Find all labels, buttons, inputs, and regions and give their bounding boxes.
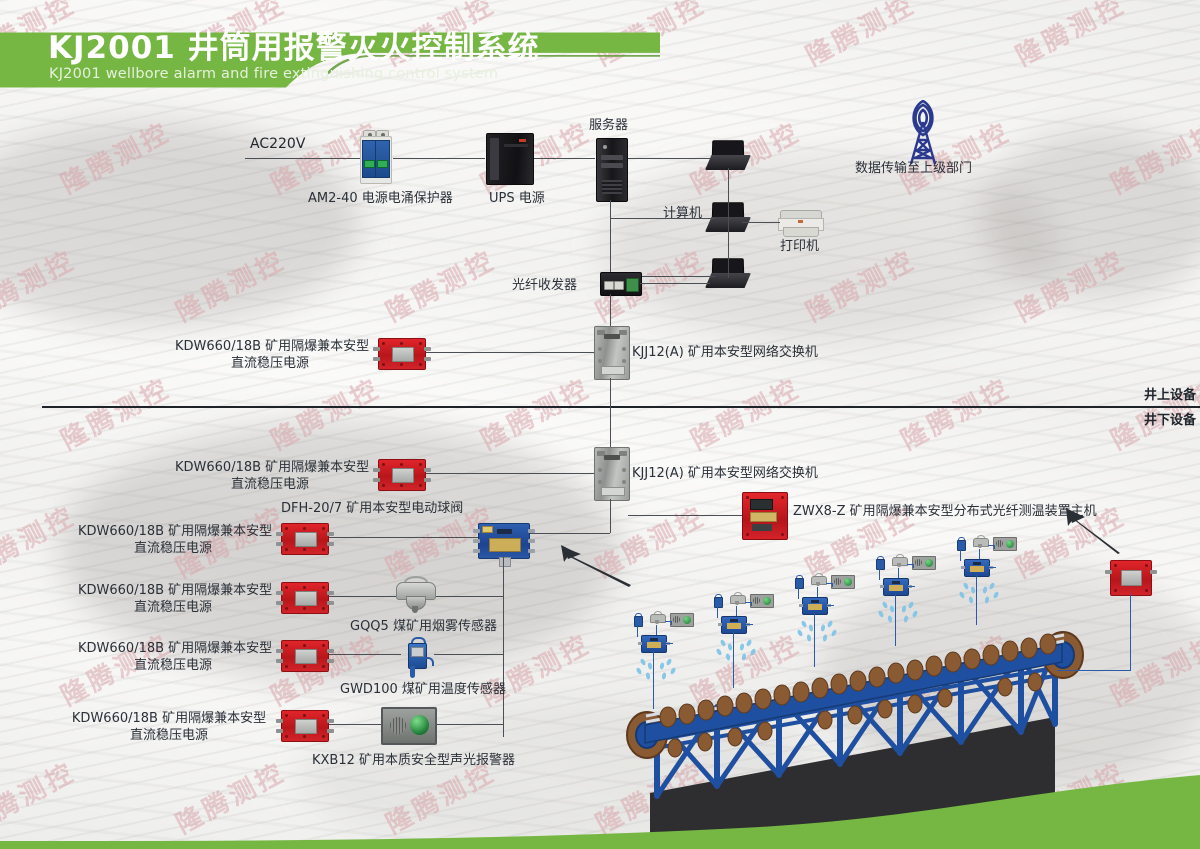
printer-label: 打印机 [780, 238, 819, 255]
line-power-to-switch-surface [426, 352, 594, 353]
water-spray-icon [797, 614, 837, 648]
wire [671, 621, 672, 625]
nd-smoke-sensor-icon [650, 611, 664, 625]
power-u1-label-line2: 直流稳压电源 [175, 476, 365, 493]
fiber-transceiver-label: 光纤收发器 [512, 277, 577, 294]
wire [798, 587, 799, 599]
wire [907, 586, 915, 587]
fiber-transceiver-icon [600, 272, 642, 296]
antenna-uplink-label: 数据传输至上级部门 [855, 160, 972, 177]
network-switch-icon [594, 447, 630, 501]
line-fiber-to-switch [610, 294, 611, 326]
page-header: KJ2001 井筒用报警灭火控制系统 KJ2001 wellbore alarm… [0, 0, 1200, 98]
line-power-u3-to-smoke [329, 596, 397, 597]
ball-valve-label: DFH-20/7 矿用本安型电动球阀 [281, 500, 463, 517]
diagram-canvas: 隆腾测控隆腾测控隆腾测控隆腾测控隆腾测控隆腾测控隆腾测控隆腾测控隆腾测控隆腾测控… [0, 0, 1200, 849]
nd-smoke-sensor-icon [973, 535, 987, 549]
wire [994, 545, 995, 549]
power-u1-label-line1: KDW660/18B 矿用隔爆兼本安型 [175, 459, 365, 476]
wire [832, 583, 833, 587]
wire [879, 568, 880, 580]
power-u5-label-line2: 直流稳压电源 [70, 727, 268, 744]
power-u2-label-line2: 直流稳压电源 [78, 540, 268, 557]
line-power-u4-to-temp [329, 654, 401, 655]
power-u1-label: KDW660/18B 矿用隔爆兼本安型 直流稳压电源 [175, 459, 365, 493]
electric-ball-valve-icon [478, 523, 530, 559]
line-laptop-to-printer [742, 222, 780, 223]
nd-smoke-sensor-icon [730, 592, 744, 606]
explosion-proof-power-icon [281, 582, 329, 614]
nd-sound-light-alarm-icon [750, 594, 774, 608]
wire [656, 625, 657, 635]
wire [898, 568, 899, 578]
line-switch-to-zwx [628, 515, 742, 516]
wire-head-bus [1057, 670, 1131, 671]
temperature-sensor-icon [399, 637, 433, 681]
line-ac-to-surge [245, 158, 360, 159]
footer-wave-shape [0, 769, 1200, 849]
antenna-tower-icon [888, 100, 958, 162]
line-server-to-laptop1 [626, 158, 714, 159]
ac-power-label: AC220V [250, 136, 305, 153]
wire [979, 549, 980, 559]
sound-light-alarm-icon [381, 707, 437, 745]
power-u3-label-line2: 直流稳压电源 [78, 599, 268, 616]
power-u3-label-line1: KDW660/18B 矿用隔爆兼本安型 [78, 582, 268, 599]
water-spray-icon [878, 595, 918, 629]
line-server-spine [610, 200, 611, 280]
power-u4-label-line2: 直流稳压电源 [78, 657, 268, 674]
temp-sensor-label: GWD100 煤矿用温度传感器 [340, 681, 506, 698]
sound-light-alarm-label: KXB12 矿用本质安全型声光报警器 [312, 752, 515, 769]
callout-arrow-left [555, 543, 635, 588]
power-u2-label-line1: KDW660/18B 矿用隔爆兼本安型 [78, 523, 268, 540]
power-u3-label: KDW660/18B 矿用隔爆兼本安型 直流稳压电源 [78, 582, 268, 616]
ups-icon [486, 133, 534, 185]
server-label: 服务器 [589, 117, 628, 134]
wire [988, 567, 996, 568]
wire [817, 587, 818, 597]
line-ups-to-server [532, 158, 595, 159]
above-ground-label: 井上设备 [1144, 387, 1196, 404]
explosion-proof-power-icon [378, 459, 426, 491]
wire [826, 605, 834, 606]
fiber-temp-host-label: ZWX8-Z 矿用隔爆兼本安型分布式光纤测温装置主机 [793, 503, 1097, 520]
line-switch-trunk [610, 378, 611, 448]
computer-label: 计算机 [663, 205, 702, 222]
surge-protector-label: AM2-40 电源电涌保护器 [308, 190, 453, 207]
wire [751, 602, 752, 606]
nd-ball-valve-icon [964, 559, 990, 577]
power-u2-label: KDW660/18B 矿用隔爆兼本安型 直流稳压电源 [78, 523, 268, 557]
wire [745, 624, 753, 625]
nd-sound-light-alarm-icon [912, 556, 936, 570]
line-surge-to-ups [393, 158, 485, 159]
nd-sound-light-alarm-icon [831, 575, 855, 589]
explosion-proof-power-icon [281, 523, 329, 555]
surface-underground-divider [42, 406, 1200, 408]
line-power-u5-to-alarm [329, 724, 381, 725]
power-surface-label-line1: KDW660/18B 矿用隔爆兼本安型 [175, 338, 365, 355]
line-trunk-to-valve [528, 533, 610, 534]
nd-smoke-sensor-icon [811, 573, 825, 587]
power-u4-label: KDW660/18B 矿用隔爆兼本安型 直流稳压电源 [78, 640, 268, 674]
wire [637, 625, 638, 637]
nd-ball-valve-icon [721, 616, 747, 634]
wire [960, 549, 961, 561]
smoke-sensor-icon [396, 575, 434, 615]
power-u4-label-line1: KDW660/18B 矿用隔爆兼本安型 [78, 640, 268, 657]
nd-smoke-sensor-icon [892, 554, 906, 568]
switch-underground-label: KJJ12(A) 矿用本安型网络交换机 [632, 465, 818, 482]
below-ground-label: 井下设备 [1144, 412, 1196, 429]
wire [913, 564, 914, 568]
wire [736, 606, 737, 616]
power-u5-label-line1: KDW660/18B 矿用隔爆兼本安型 [70, 710, 268, 727]
switch-surface-label: KJJ12(A) 矿用本安型网络交换机 [632, 344, 818, 361]
wire [665, 643, 673, 644]
line-laptop-column [728, 168, 729, 278]
nd-sound-light-alarm-icon [993, 537, 1017, 551]
page-title: KJ2001 井筒用报警灭火控制系统 [48, 22, 540, 67]
server-icon [596, 138, 628, 202]
wire [717, 606, 718, 618]
nd-ball-valve-icon [802, 597, 828, 615]
line-smoke-to-riser [435, 596, 503, 597]
line-switch-to-valve-trunk [610, 499, 611, 533]
water-spray-icon [959, 576, 999, 610]
power-surface-label-line2: 直流稳压电源 [175, 355, 365, 372]
line-power-to-switch-underground [426, 473, 594, 474]
printer-icon [778, 210, 822, 238]
footer-green-bar [0, 841, 1200, 849]
surge-protector-icon [360, 130, 390, 186]
page-subtitle: KJ2001 wellbore alarm and fire extinguis… [49, 66, 498, 82]
smoke-sensor-label: GQQ5 煤矿用烟雾传感器 [350, 618, 497, 635]
line-power-u2-to-valve [329, 537, 478, 538]
power-u5-label: KDW660/18B 矿用隔爆兼本安型 直流稳压电源 [70, 710, 268, 744]
power-surface-label: KDW660/18B 矿用隔爆兼本安型 直流稳压电源 [175, 338, 365, 372]
nd-ball-valve-icon [883, 578, 909, 596]
line-temp-to-riser [434, 654, 503, 655]
callout-arrow-right [1058, 507, 1128, 555]
fiber-temperature-host-icon [742, 492, 788, 540]
water-spray-icon [636, 652, 676, 686]
line-fiber-to-laptop3 [640, 283, 710, 284]
network-switch-icon [594, 326, 630, 380]
water-spray-icon [716, 633, 756, 667]
explosion-proof-power-icon [281, 710, 329, 742]
line-valve-riser [503, 557, 504, 737]
nd-ball-valve-icon [641, 635, 667, 653]
explosion-proof-power-icon [281, 640, 329, 672]
explosion-proof-power-icon [378, 338, 426, 370]
ups-label: UPS 电源 [489, 190, 545, 207]
line-alarm-to-riser [433, 724, 503, 725]
nd-sound-light-alarm-icon [670, 613, 694, 627]
line-spine-to-laptop2 [610, 218, 715, 219]
